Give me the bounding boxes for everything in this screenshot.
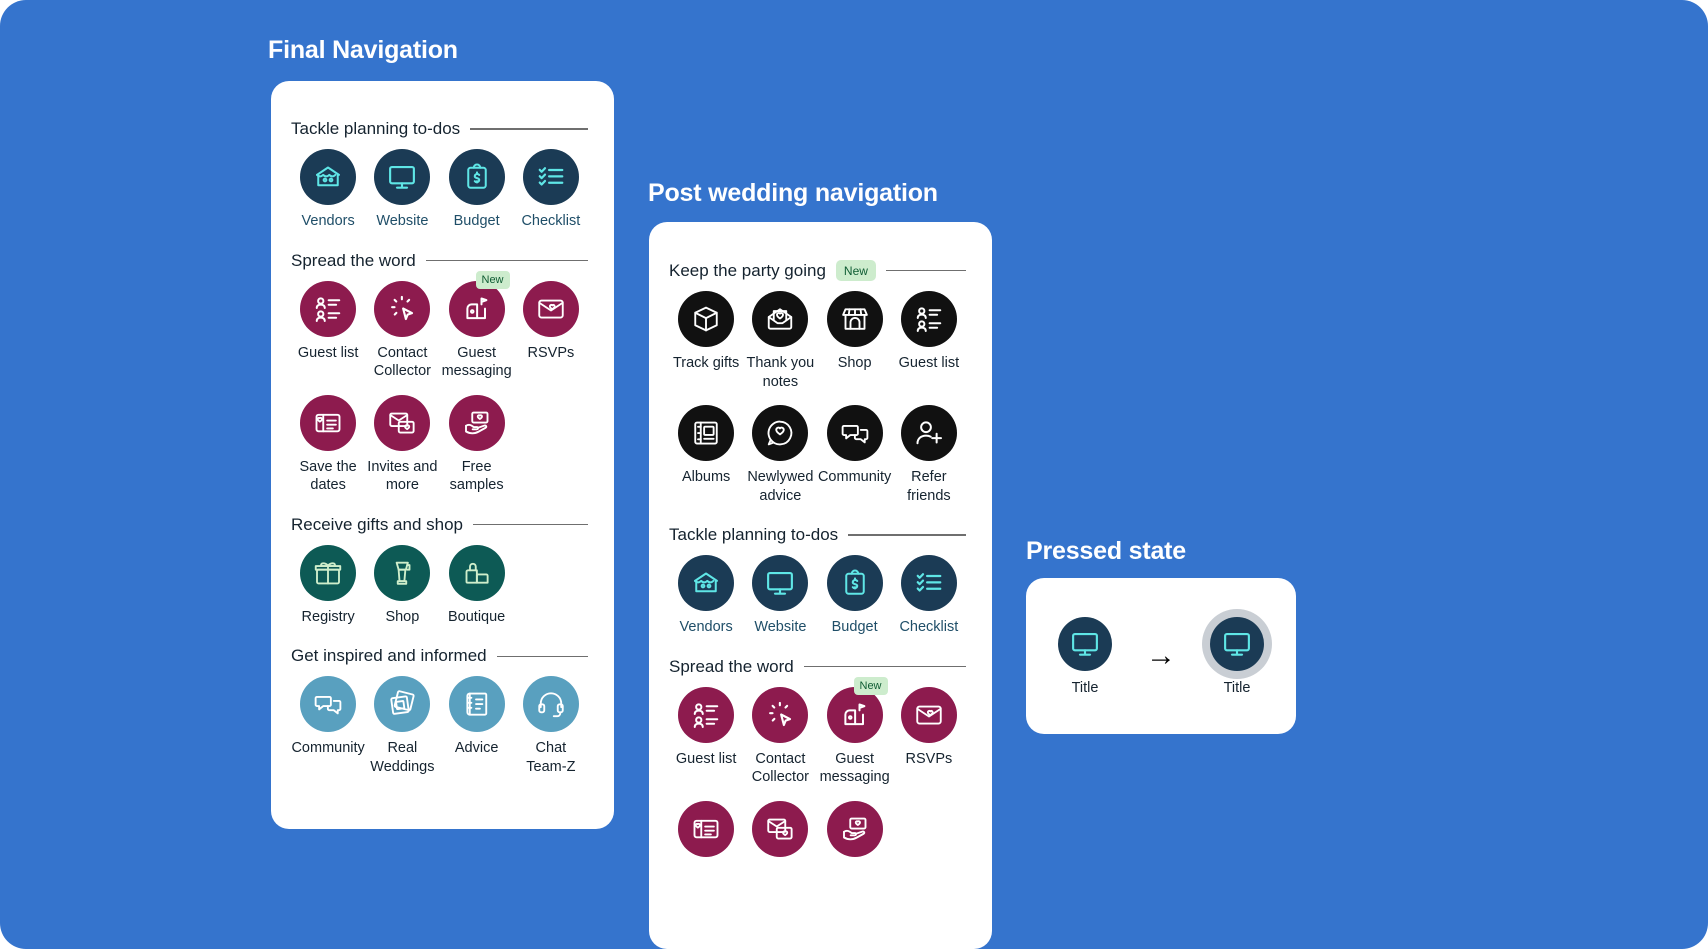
group-divider (470, 128, 588, 130)
headset-icon[interactable] (523, 676, 579, 732)
new-badge: New (854, 677, 888, 695)
guest-messaging-icon[interactable] (827, 687, 883, 743)
nav-tile-label: Invites and more (365, 458, 439, 495)
tile-grid: RegistryShopBoutique (291, 545, 588, 627)
group-header: Get inspired and informed (291, 646, 588, 666)
nav-tile-community[interactable]: Community (291, 676, 365, 776)
nav-group: Spread the wordGuest listContact Collect… (291, 251, 588, 495)
nav-tile-label: Track gifts (673, 354, 739, 373)
nav-tile-vendors[interactable]: Vendors (669, 555, 743, 637)
nav-tile-label: Save the dates (291, 458, 365, 495)
tile-grid: Guest listContact CollectorNewGuest mess… (669, 687, 966, 857)
save-the-dates-icon[interactable] (678, 801, 734, 857)
new-badge: New (476, 271, 510, 289)
group-divider (804, 666, 966, 668)
nav-tile-label: RSVPs (528, 344, 575, 363)
nav-tile-label: Website (754, 618, 806, 637)
guest-list-icon[interactable] (300, 281, 356, 337)
nav-group: Get inspired and informedCommunityReal W… (291, 646, 588, 776)
budget-icon[interactable] (827, 555, 883, 611)
group-header: Tackle planning to-dos (669, 525, 966, 545)
nav-tile-registry[interactable]: Registry (291, 545, 365, 627)
nav-tile-label: Vendors (680, 618, 733, 637)
tile-grid: CommunityReal WeddingsAdviceChat Team-Z (291, 676, 588, 776)
section-title-pressed-state: Pressed state (1026, 537, 1186, 566)
nav-group: Tackle planning to-dosVendorsWebsiteBudg… (669, 525, 966, 637)
nav-tile-checklist[interactable]: Checklist (514, 149, 588, 231)
group-divider (886, 270, 966, 272)
nav-tile-track-gifts[interactable]: Track gifts (669, 291, 743, 391)
nav-tile-label: Guest messaging (818, 750, 892, 787)
pressed-state-row: Title → Title (1026, 578, 1296, 734)
nav-tile-guest-list[interactable]: Guest list (291, 281, 365, 381)
registry-icon[interactable] (300, 545, 356, 601)
pressed-state-default[interactable]: Title (1058, 617, 1112, 696)
guest-list-icon[interactable] (901, 291, 957, 347)
newlywed-advice-icon[interactable] (752, 405, 808, 461)
website-icon[interactable] (1058, 617, 1112, 671)
nav-tile-advice[interactable]: Advice (440, 676, 514, 776)
nav-tile-save-the-dates[interactable] (669, 801, 743, 857)
nav-tile-label: Guest list (899, 354, 959, 373)
section-title-post-wedding-navigation: Post wedding navigation (648, 179, 938, 208)
nav-tile-website[interactable]: Website (743, 555, 817, 637)
nav-tile-label: Thank you notes (743, 354, 817, 391)
new-badge: New (836, 260, 876, 281)
nav-tile-label: Refer friends (892, 468, 966, 505)
nav-tile-label: Real Weddings (365, 739, 439, 776)
canvas: Final Navigation Post wedding navigation… (0, 0, 1708, 949)
nav-tile-free-samples[interactable]: Free samples (440, 395, 514, 495)
rsvps-icon[interactable] (901, 687, 957, 743)
nav-tile-label: Boutique (448, 608, 505, 627)
nav-tile-refer-friends[interactable]: Refer friends (892, 405, 966, 505)
invites-icon[interactable] (374, 395, 430, 451)
contact-collector-icon[interactable] (752, 687, 808, 743)
nav-group: Tackle planning to-dosVendorsWebsiteBudg… (291, 119, 588, 231)
contact-collector-icon[interactable] (374, 281, 430, 337)
group-header: Keep the party goingNew (669, 260, 966, 281)
group-divider (473, 524, 588, 526)
arrow-right-icon: → (1146, 641, 1176, 671)
nav-tile-label: Contact Collector (743, 750, 817, 787)
group-header: Spread the word (291, 251, 588, 271)
nav-tile-label: Community (818, 468, 891, 487)
group-header: Tackle planning to-dos (291, 119, 588, 139)
advice-icon[interactable] (449, 676, 505, 732)
nav-tile-label: Registry (302, 608, 355, 627)
nav-group: Spread the wordGuest listContact Collect… (669, 657, 966, 857)
budget-icon[interactable] (449, 149, 505, 205)
nav-tile-save-the-dates[interactable]: Save the dates (291, 395, 365, 495)
package-icon[interactable] (678, 291, 734, 347)
nav-tile-guest-messaging[interactable]: NewGuest messaging (440, 281, 514, 381)
nav-tile-contact-collector[interactable]: Contact Collector (743, 687, 817, 787)
website-icon[interactable] (752, 555, 808, 611)
nav-tile-newlywed-advice[interactable]: Newlywed advice (743, 405, 817, 505)
nav-tile-albums[interactable]: Albums (669, 405, 743, 505)
nav-tile-label: Guest messaging (440, 344, 514, 381)
vendors-icon[interactable] (678, 555, 734, 611)
guest-messaging-icon[interactable] (449, 281, 505, 337)
tile-grid: VendorsWebsiteBudgetChecklist (669, 555, 966, 637)
community-icon[interactable] (827, 405, 883, 461)
nav-tile-label: Budget (454, 212, 500, 231)
group-divider (497, 656, 588, 658)
boutique-icon[interactable] (449, 545, 505, 601)
nav-tile-label: Free samples (440, 458, 514, 495)
nav-tile-community[interactable]: Community (818, 405, 892, 505)
nav-tile-label: Albums (682, 468, 730, 487)
group-heading-label: Keep the party going (669, 261, 826, 281)
nav-tile-label: Shop (385, 608, 419, 627)
albums-icon[interactable] (678, 405, 734, 461)
group-divider (848, 534, 966, 536)
save-the-dates-icon[interactable] (300, 395, 356, 451)
post-wedding-navigation-card: Keep the party goingNewTrack giftsThank … (649, 222, 992, 949)
checklist-icon[interactable] (523, 149, 579, 205)
pressed-state-card: Title → Title (1026, 578, 1296, 734)
nav-group: Receive gifts and shopRegistryShopBoutiq… (291, 515, 588, 627)
nav-tile-label: Checklist (521, 212, 580, 231)
tile-grid: Guest listContact CollectorNewGuest mess… (291, 281, 588, 495)
nav-tile-invites-and-more[interactable]: Invites and more (365, 395, 439, 495)
nav-tile-label: Guest list (298, 344, 358, 363)
nav-tile-label: Guest list (676, 750, 736, 769)
real-weddings-icon[interactable] (374, 676, 430, 732)
website-icon[interactable] (374, 149, 430, 205)
nav-tile-label: Checklist (899, 618, 958, 637)
group-header: Spread the word (669, 657, 966, 677)
nav-tile-rsvps[interactable]: RSVPs (892, 687, 966, 787)
nav-tile-label: Vendors (302, 212, 355, 231)
nav-tile-website[interactable]: Website (365, 149, 439, 231)
guest-list-icon[interactable] (678, 687, 734, 743)
group-divider (426, 260, 588, 262)
storefront-icon[interactable] (827, 291, 883, 347)
group-heading-label: Spread the word (669, 657, 794, 677)
nav-tile-label: Newlywed advice (743, 468, 817, 505)
group-heading-label: Tackle planning to-dos (669, 525, 838, 545)
free-samples-icon[interactable] (449, 395, 505, 451)
blender-icon[interactable] (374, 545, 430, 601)
free-samples-icon[interactable] (827, 801, 883, 857)
nav-tile-guest-messaging[interactable]: NewGuest messaging (818, 687, 892, 787)
nav-tile-guest-list[interactable]: Guest list (892, 291, 966, 391)
invites-icon[interactable] (752, 801, 808, 857)
nav-tile-budget[interactable]: Budget (440, 149, 514, 231)
nav-tile-thank-you-notes[interactable]: Thank you notes (743, 291, 817, 391)
tile-grid: Track giftsThank you notesShopGuest list… (669, 291, 966, 505)
nav-tile-chat-team-z[interactable]: Chat Team-Z (514, 676, 588, 776)
section-title-final-navigation: Final Navigation (268, 36, 458, 65)
group-heading-label: Spread the word (291, 251, 416, 271)
nav-tile-checklist[interactable]: Checklist (892, 555, 966, 637)
pressed-state-default-label: Title (1072, 680, 1099, 696)
nav-tile-label: Contact Collector (365, 344, 439, 381)
group-heading-label: Tackle planning to-dos (291, 119, 460, 139)
nav-tile-vendors[interactable]: Vendors (291, 149, 365, 231)
website-icon-pressed[interactable] (1210, 617, 1264, 671)
group-heading-label: Get inspired and informed (291, 646, 487, 666)
nav-tile-boutique[interactable]: Boutique (440, 545, 514, 627)
thank-you-notes-icon[interactable] (752, 291, 808, 347)
nav-tile-label: Community (291, 739, 364, 758)
nav-tile-label: Shop (838, 354, 872, 373)
nav-tile-label: Budget (832, 618, 878, 637)
pressed-state-pressed-label: Title (1224, 680, 1251, 696)
nav-tile-label: Website (376, 212, 428, 231)
nav-tile-shop[interactable]: Shop (365, 545, 439, 627)
community-icon[interactable] (300, 676, 356, 732)
rsvps-icon[interactable] (523, 281, 579, 337)
group-heading-label: Receive gifts and shop (291, 515, 463, 535)
nav-tile-label: Chat Team-Z (514, 739, 588, 776)
nav-tile-free-samples[interactable] (818, 801, 892, 857)
pressed-state-pressed[interactable]: Title (1210, 617, 1264, 696)
nav-tile-rsvps[interactable]: RSVPs (514, 281, 588, 381)
refer-friends-icon[interactable] (901, 405, 957, 461)
nav-tile-guest-list[interactable]: Guest list (669, 687, 743, 787)
nav-tile-shop[interactable]: Shop (818, 291, 892, 391)
vendors-icon[interactable] (300, 149, 356, 205)
nav-tile-contact-collector[interactable]: Contact Collector (365, 281, 439, 381)
tile-grid: VendorsWebsiteBudgetChecklist (291, 149, 588, 231)
checklist-icon[interactable] (901, 555, 957, 611)
nav-tile-label: RSVPs (906, 750, 953, 769)
final-navigation-card: Tackle planning to-dosVendorsWebsiteBudg… (271, 81, 614, 829)
nav-tile-invites[interactable] (743, 801, 817, 857)
nav-group: Keep the party goingNewTrack giftsThank … (669, 260, 966, 505)
nav-tile-budget[interactable]: Budget (818, 555, 892, 637)
nav-tile-real-weddings[interactable]: Real Weddings (365, 676, 439, 776)
nav-tile-label: Advice (455, 739, 499, 758)
group-header: Receive gifts and shop (291, 515, 588, 535)
